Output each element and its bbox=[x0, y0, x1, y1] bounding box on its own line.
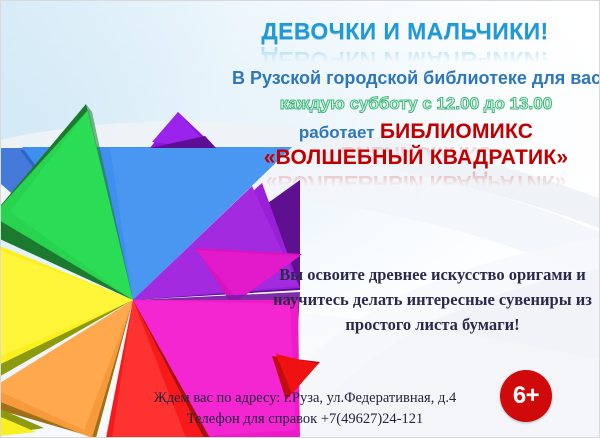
description-line-3: простого листа бумаги! bbox=[265, 312, 600, 337]
description-line-2: научитесь делать интересные сувениры из bbox=[265, 287, 600, 312]
description-block: Вы освоите древнее искусство оригами и н… bbox=[265, 262, 600, 337]
headline-block: ДЕВОЧКИ И МАЛЬЧИКИ! ДЕВОЧКИ И МАЛЬЧИКИ! bbox=[210, 18, 600, 73]
announcement-line-2: каждую субботу с 12.00 до 13.00 bbox=[232, 94, 600, 114]
announcement-club-name: БИБЛИОМИКС bbox=[380, 120, 533, 143]
announcement-line-4: «ВОЛШЕБНЫЙ КВАДРАТИК» bbox=[232, 146, 600, 170]
footer-block: Ждем вас по адресу: г.Руза, ул.Федератив… bbox=[110, 388, 500, 430]
headline-text: ДЕВОЧКИ И МАЛЬЧИКИ! bbox=[210, 18, 600, 45]
poster-canvas: ДЕВОЧКИ И МАЛЬЧИКИ! ДЕВОЧКИ И МАЛЬЧИКИ! … bbox=[0, 0, 600, 438]
age-rating-badge: 6+ bbox=[500, 370, 552, 422]
announcement-line-4-reflection: «ВОЛШЕБНЫЙ КВАДРАТИК» bbox=[232, 170, 600, 194]
age-rating-label: 6+ bbox=[500, 370, 552, 422]
footer-phone: Телефон для справок +7(49627)24-121 bbox=[110, 409, 500, 430]
announcement-works-label: работает bbox=[299, 123, 375, 142]
description-line-1: Вы освоите древнее искусство оригами и bbox=[265, 262, 600, 287]
footer-address: Ждем вас по адресу: г.Руза, ул.Федератив… bbox=[110, 388, 500, 409]
announcement-line-1: В Рузской городской библиотеке для вас bbox=[232, 68, 600, 89]
